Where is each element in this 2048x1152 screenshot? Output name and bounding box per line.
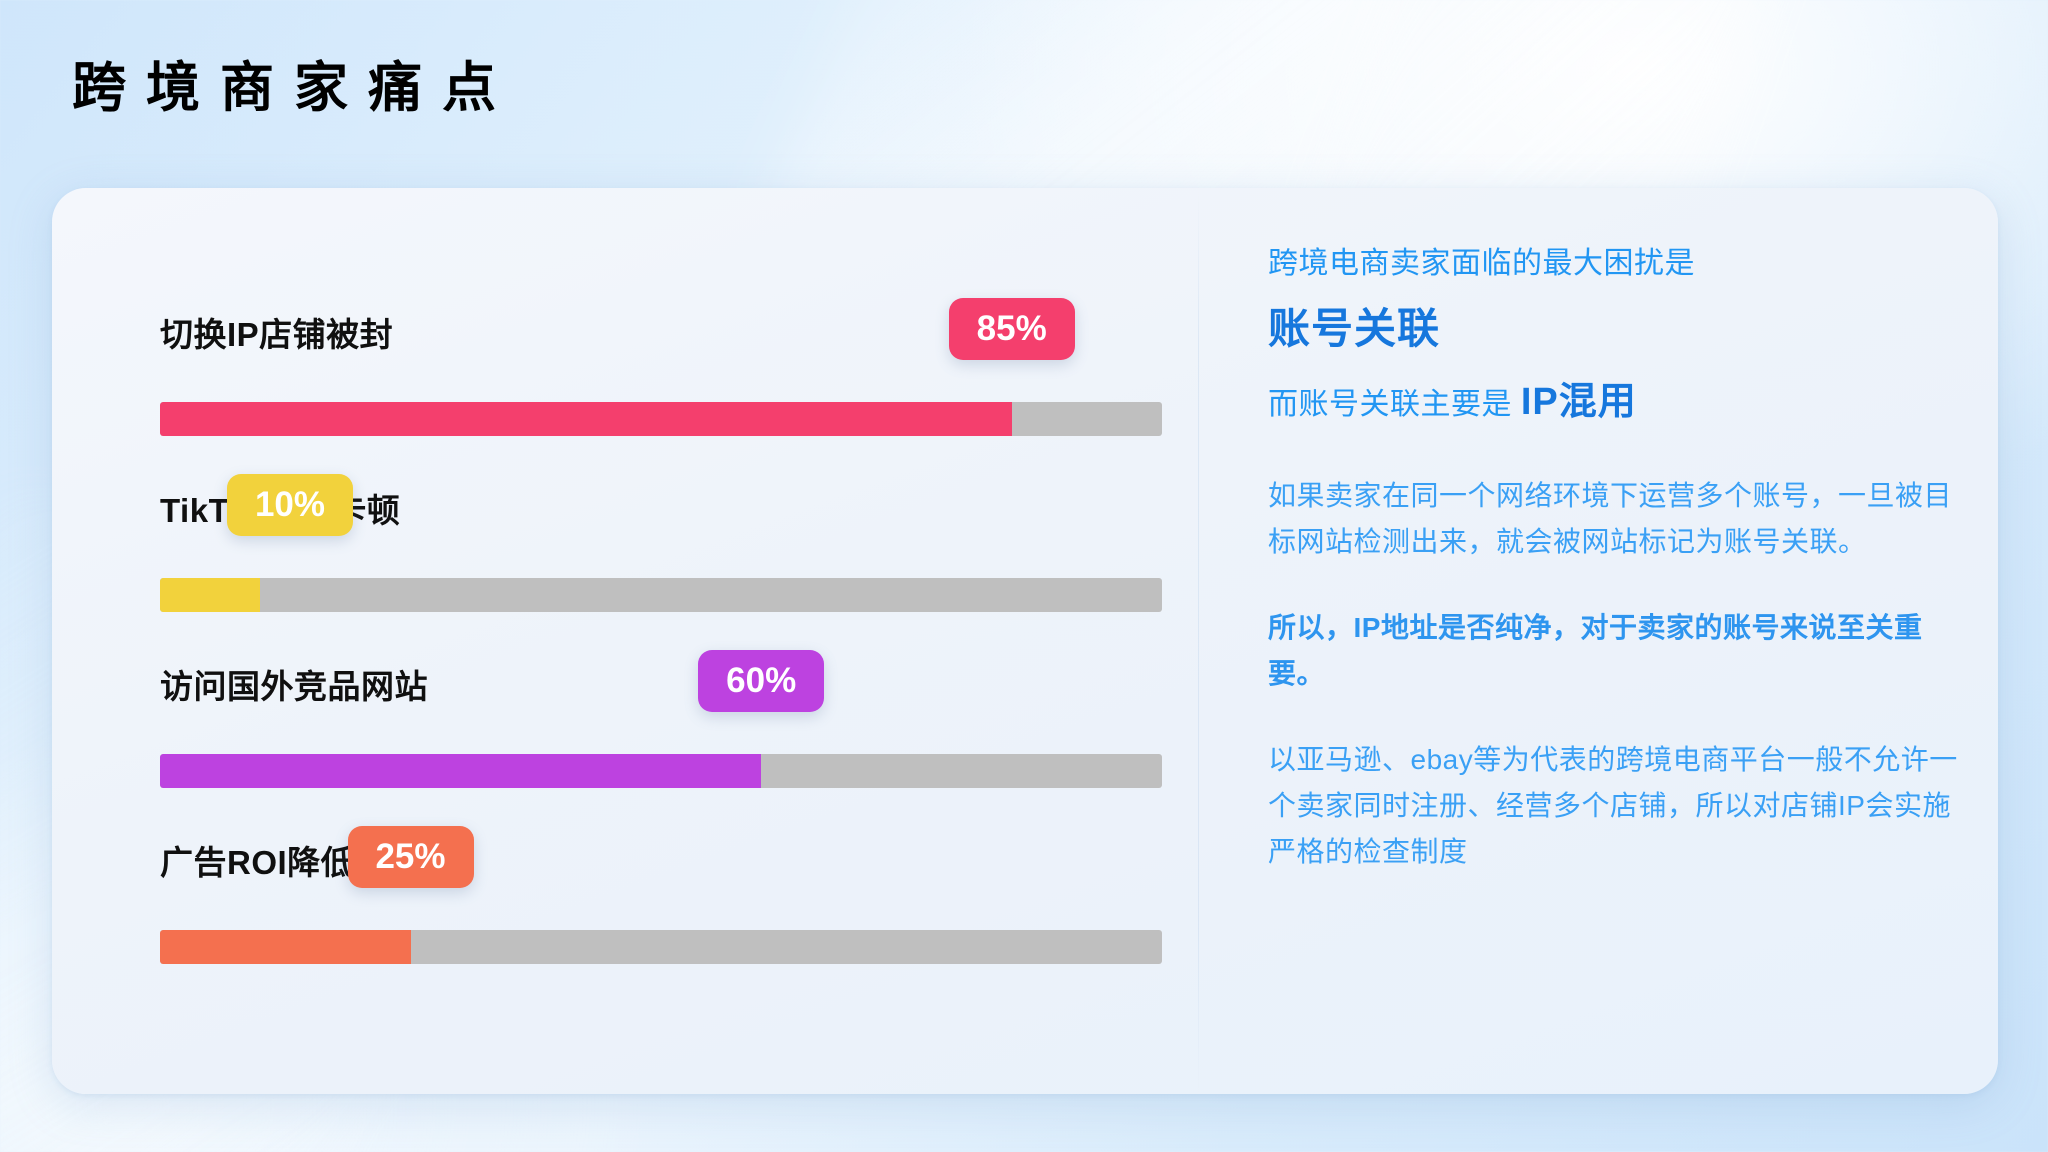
- bar-header: 广告ROI降低25%: [108, 816, 1168, 886]
- bar-category-label: 广告ROI降低: [160, 836, 354, 884]
- bar-row: TikTok直播卡顿10%: [108, 464, 1168, 640]
- bar-fill: [160, 402, 1012, 436]
- bar-value-badge: 10%: [227, 474, 353, 536]
- bar-value-badge: 60%: [698, 650, 824, 712]
- bar-category-label: 切换IP店铺被封: [160, 308, 393, 356]
- explanation-panel: 跨境电商卖家面临的最大困扰是 账号关联 而账号关联主要是 IP混用 如果卖家在同…: [1212, 188, 1998, 1094]
- bar-category-label: 访问国外竞品网站: [160, 660, 428, 708]
- bar-value-badge: 85%: [949, 298, 1075, 360]
- bar-fill: [160, 930, 411, 964]
- panel-paragraph-1: 如果卖家在同一个网络环境下运营多个账号，一旦被目标网站检测出来，就会被网站标记为…: [1268, 473, 1964, 565]
- panel-sub-strong: IP混用: [1521, 381, 1637, 423]
- bar-track: [160, 754, 1162, 788]
- bar-header: TikTok直播卡顿10%: [108, 464, 1168, 534]
- panel-lead-text: 跨境电商卖家面临的最大困扰是: [1268, 240, 1964, 289]
- content-card: 切换IP店铺被封85%TikTok直播卡顿10%访问国外竞品网站60%广告ROI…: [52, 188, 1998, 1094]
- pain-point-bar-chart: 切换IP店铺被封85%TikTok直播卡顿10%访问国外竞品网站60%广告ROI…: [108, 288, 1168, 992]
- panel-sub-prefix: 而账号关联主要是: [1268, 388, 1512, 421]
- bar-value-badge: 25%: [348, 826, 474, 888]
- card-divider: [1198, 188, 1199, 1094]
- bar-track: [160, 578, 1162, 612]
- bar-track: [160, 930, 1162, 964]
- panel-subline: 而账号关联主要是 IP混用: [1268, 372, 1964, 434]
- panel-highlight-text: 账号关联: [1268, 297, 1964, 360]
- bar-header: 访问国外竞品网站60%: [108, 640, 1168, 710]
- bar-fill: [160, 578, 260, 612]
- panel-paragraph-3: 以亚马逊、ebay等为代表的跨境电商平台一般不允许一个卖家同时注册、经营多个店铺…: [1268, 737, 1964, 875]
- bar-track: [160, 402, 1162, 436]
- bar-row: 访问国外竞品网站60%: [108, 640, 1168, 816]
- bar-row: 广告ROI降低25%: [108, 816, 1168, 992]
- page-title: 跨境商家痛点: [72, 57, 516, 121]
- bar-header: 切换IP店铺被封85%: [108, 288, 1168, 358]
- bar-fill: [160, 754, 761, 788]
- bar-row: 切换IP店铺被封85%: [108, 288, 1168, 464]
- panel-paragraph-2: 所以，IP地址是否纯净，对于卖家的账号来说至关重要。: [1268, 605, 1964, 697]
